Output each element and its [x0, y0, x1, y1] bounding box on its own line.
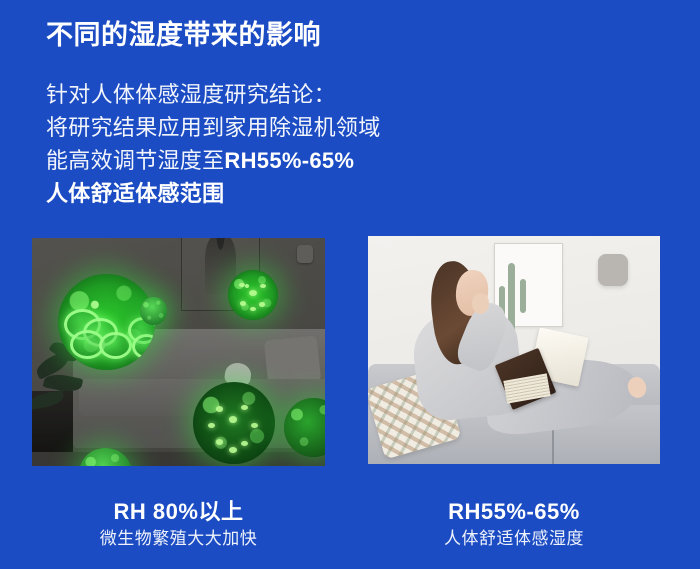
caption-subtitle: 人体舒适体感湿度: [368, 526, 660, 552]
microbe-spike: [216, 439, 223, 445]
microbe-sphere-edge-right: [284, 398, 325, 457]
photo-high-humidity: [32, 238, 325, 466]
intro-paragraph: 针对人体体感湿度研究结论： 将研究结果应用到家用除湿机领域 能高效调节湿度至RH…: [46, 78, 466, 210]
intro-line-3-normal: 能高效调节湿度至: [46, 148, 224, 173]
microbe-blob: [132, 334, 155, 359]
microbe-spike: [229, 416, 237, 423]
microbe-spike: [229, 447, 236, 453]
person-hand: [472, 293, 490, 314]
microbe-sphere-edge-bottom: [79, 448, 132, 466]
microbe-spike: [251, 423, 258, 429]
scene-bright-living-room: [368, 236, 660, 464]
page-title: 不同的湿度带来的影响: [46, 16, 321, 54]
microbe-sphere-edge-mid: [140, 297, 166, 324]
microbe-blob: [99, 332, 132, 359]
microbe-spike: [240, 301, 246, 306]
caption-comfort-humidity: RH55%-65% 人体舒适体感湿度: [368, 498, 660, 552]
caption-title: RH55%-65%: [368, 498, 660, 526]
intro-line-1: 针对人体体感湿度研究结论：: [46, 78, 466, 111]
intro-line-3-highlight: RH55%-65%: [224, 148, 354, 173]
microbe-sphere-lower: [193, 382, 275, 464]
intro-line-4: 人体舒适体感范围: [46, 177, 466, 210]
microbe-spike: [259, 302, 265, 307]
cactus-illustration: [520, 279, 526, 313]
microbe-spike: [241, 441, 248, 447]
scene-dim-room: [32, 238, 325, 466]
photo-comfort-humidity: [368, 236, 660, 464]
microbe-spike: [249, 290, 257, 296]
caption-title: RH 80%以上: [32, 498, 325, 526]
intro-line-2: 将研究结果应用到家用除湿机领域: [46, 111, 466, 144]
microbe-spike: [241, 405, 248, 411]
microbe-spike: [260, 284, 266, 289]
wall-speaker-icon: [598, 254, 628, 286]
microbe-spike: [250, 307, 255, 311]
microbe-spike: [208, 423, 215, 429]
poster-root: 不同的湿度带来的影响 针对人体体感湿度研究结论： 将研究结果应用到家用除湿机领域…: [0, 0, 700, 569]
microbe-spike: [216, 406, 223, 412]
microbe-sphere-small: [228, 270, 278, 320]
caption-high-humidity: RH 80%以上 微生物繁殖大大加快: [32, 498, 325, 552]
intro-line-3: 能高效调节湿度至RH55%-65%: [46, 144, 466, 177]
caption-subtitle: 微生物繁殖大大加快: [32, 526, 325, 552]
microbe-spike: [239, 283, 245, 288]
